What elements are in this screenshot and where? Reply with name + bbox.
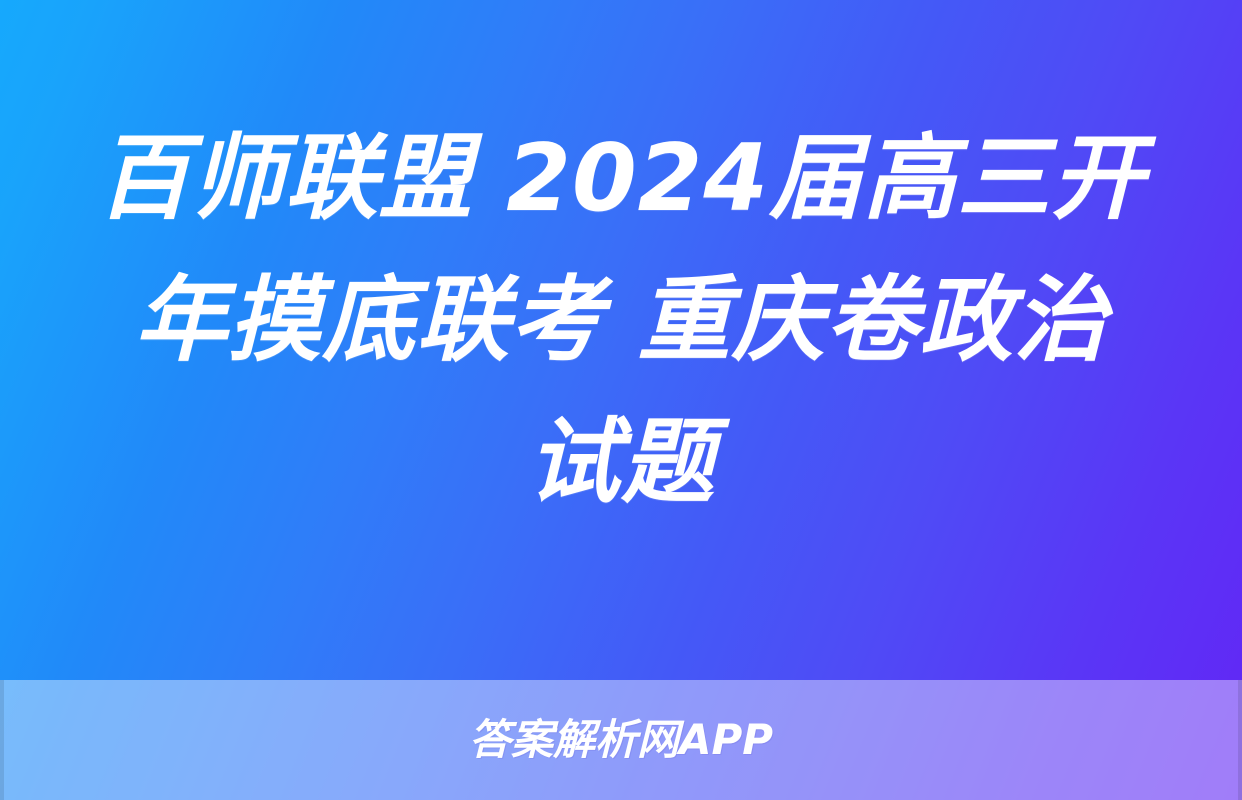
app-watermark-label: 答案解析网APP [469,719,773,761]
exam-cover-screen: 百师联盟 2024届高三开 年摸底联考 重庆卷政治 试题 答案解析网APP [0,0,1242,800]
watermark-footer-band: 答案解析网APP [0,680,1242,800]
title-block: 百师联盟 2024届高三开 年摸底联考 重庆卷政治 试题 [0,0,1242,680]
page-title: 百师联盟 2024届高三开 年摸底联考 重庆卷政治 试题 [97,107,1145,533]
